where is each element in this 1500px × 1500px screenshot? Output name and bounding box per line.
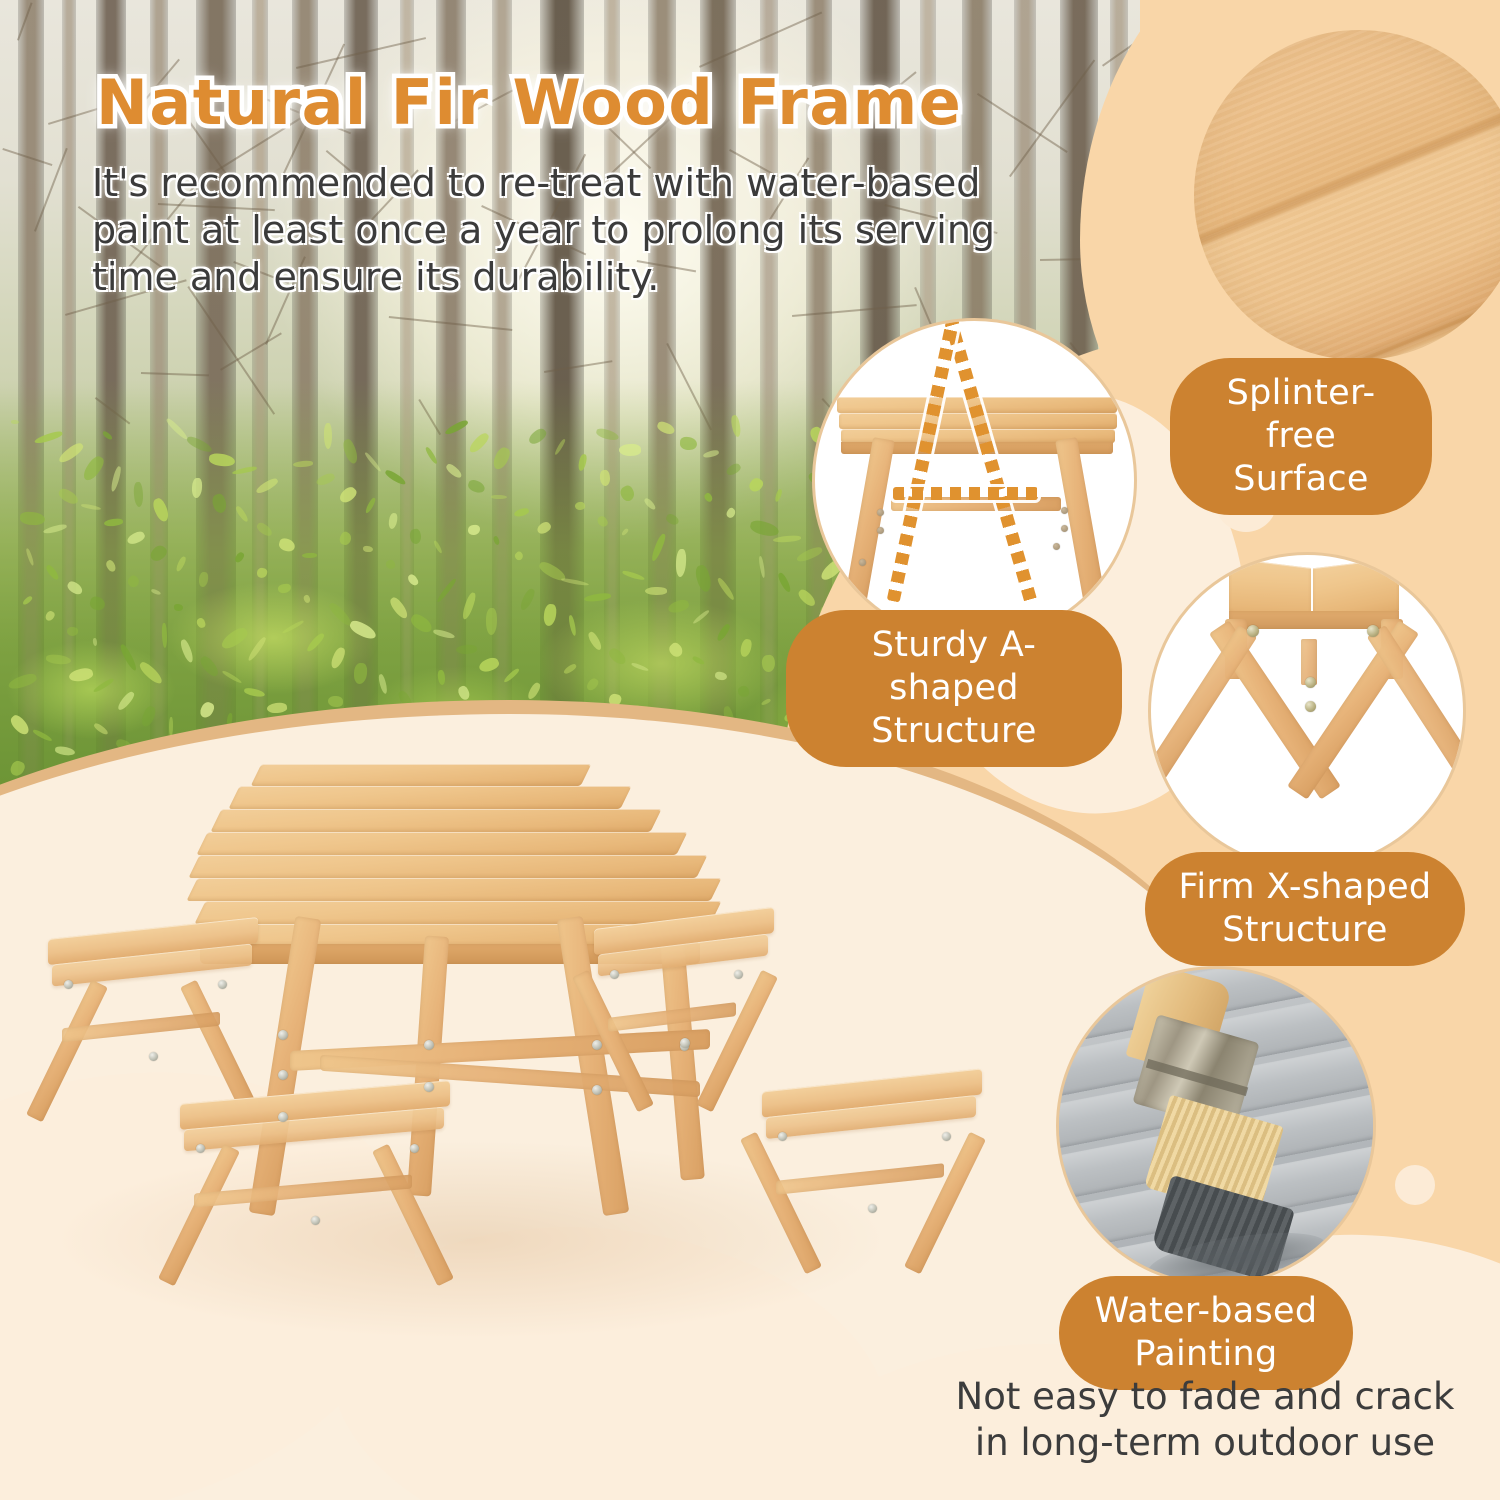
inset-firm-x-shaped-structure-image: [1148, 552, 1466, 870]
infographic-canvas: Natural Fir Wood Frame It's recommended …: [0, 0, 1500, 1500]
label-splinter-free-surface: Splinter-free Surface: [1170, 358, 1432, 515]
inset-splinter-free-surface-image: [1194, 30, 1500, 360]
label-line-1: Sturdy A-shaped: [872, 625, 1036, 708]
page-subtitle: It's recommended to re-treat with water-…: [92, 160, 1072, 301]
inset-water-based-painting-image: [1056, 966, 1376, 1286]
label-line-1: Splinter-free: [1227, 373, 1376, 456]
label-line-2: Structure: [1222, 910, 1388, 950]
label-firm-x-shaped-structure: Firm X-shaped Structure: [1145, 852, 1465, 966]
label-line-1: Water-based: [1095, 1291, 1318, 1331]
inset-sturdy-a-shaped-structure-image: [812, 318, 1137, 643]
water-based-painting-caption: Not easy to fade and crack in long-term …: [930, 1374, 1480, 1466]
label-line-2: Painting: [1134, 1334, 1277, 1374]
cream-dot-lower-right: [1395, 1165, 1435, 1205]
caption-line-2: in long-term outdoor use: [975, 1421, 1435, 1464]
caption-line-1: Not easy to fade and crack: [956, 1375, 1455, 1418]
product-photo-picnic-table: [20, 740, 920, 1360]
label-sturdy-a-shaped-structure: Sturdy A-shaped Structure: [786, 610, 1122, 767]
label-line-2: Structure: [871, 711, 1037, 751]
label-line-2: Surface: [1233, 459, 1368, 499]
page-title: Natural Fir Wood Frame: [96, 66, 962, 139]
label-line-1: Firm X-shaped: [1179, 867, 1432, 907]
label-water-based-painting: Water-based Painting: [1059, 1276, 1353, 1390]
